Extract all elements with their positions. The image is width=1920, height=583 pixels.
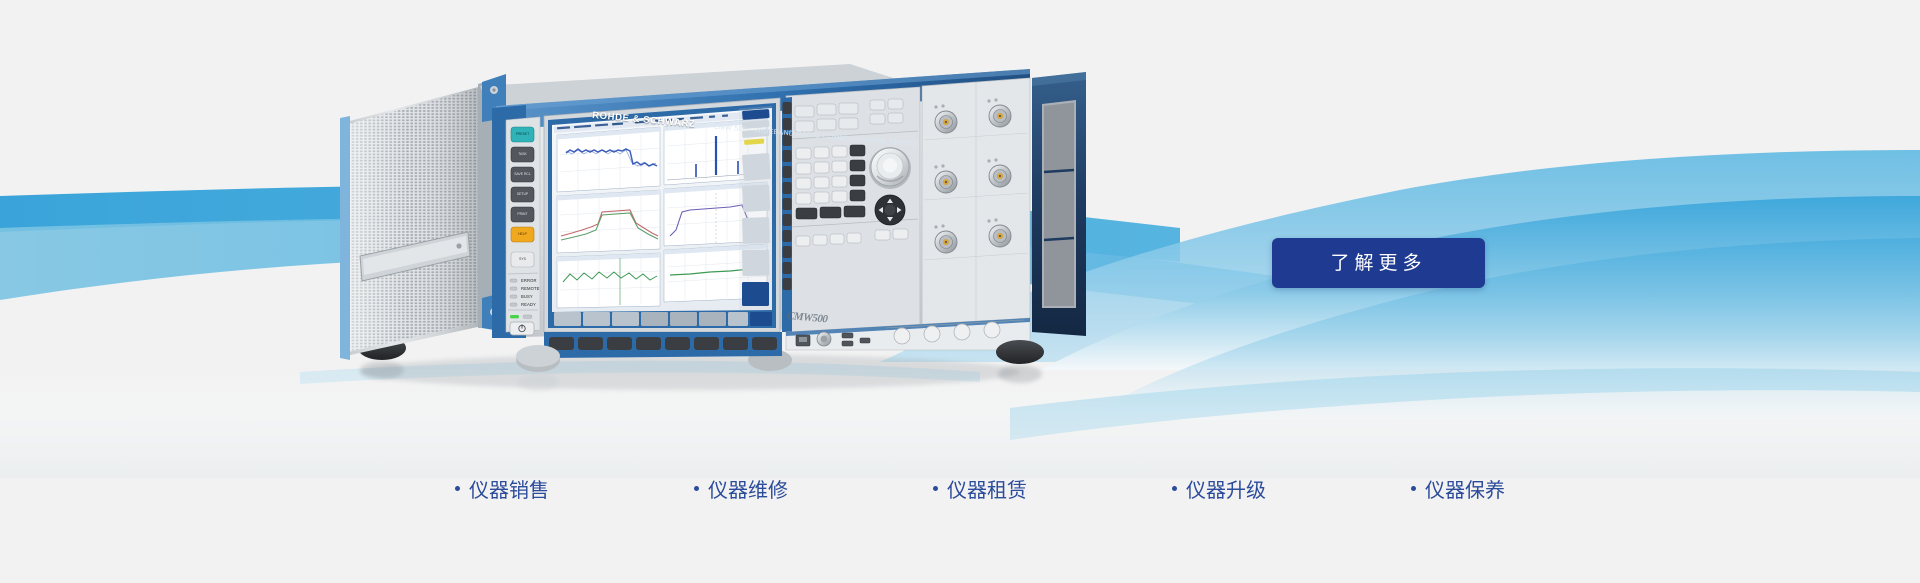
vsk-4[interactable] [783,150,792,162]
softkey-3[interactable] [607,337,632,350]
key-decimal[interactable] [814,192,829,203]
key-on-off[interactable] [870,100,885,110]
vsk-7[interactable] [783,198,792,210]
service-label: 仪器销售 [469,474,549,503]
led-remote [510,287,517,290]
instrument-illustration [330,60,1090,405]
key-lower-4[interactable] [847,233,861,243]
bullet-icon [933,486,938,491]
af1-in-jack[interactable] [894,328,910,344]
vsk-10[interactable] [783,246,792,258]
key-6[interactable] [832,161,847,172]
key-menu[interactable] [870,114,885,124]
navigation-dpad[interactable] [875,195,905,225]
key-lower-6[interactable] [893,229,908,239]
key-label-help: HELP [511,232,534,236]
service-label: 仪器租赁 [947,474,1027,503]
key-data[interactable] [795,121,814,132]
led-ready [510,303,517,306]
tab-rf-settings [742,153,771,181]
key-measure[interactable] [817,104,836,115]
led-label-error: ERROR [521,278,537,283]
screen-tab-8 [750,312,772,326]
key-undo[interactable] [888,113,903,123]
lan-port[interactable] [796,335,810,346]
softkey-8[interactable] [752,337,777,350]
key-2[interactable] [814,177,829,188]
vsk-2[interactable] [783,118,792,130]
service-item-upgrade[interactable]: 仪器升级 [1172,474,1266,503]
bullet-icon [694,486,699,491]
tab-active-bottom [742,282,769,306]
key-7[interactable] [796,148,811,159]
screen-side-tabs[interactable] [739,106,772,310]
key-label-setup: SETUP [511,192,534,196]
key-lower-1[interactable] [796,236,810,246]
key-label-sys: SYS [511,257,534,261]
key-stats[interactable] [817,119,836,130]
softkey-6[interactable] [694,337,719,350]
bullet-icon [1172,486,1177,491]
hero-banner: ROHDE & SCHWARZ CMW 500 · WIDEBAND RADIO… [0,0,1920,583]
key-8[interactable] [814,147,829,158]
softkey-7[interactable] [723,337,748,350]
screen-tab-3 [612,312,639,326]
plot-spectral-flatness [557,253,660,308]
tab-trigger [742,185,770,212]
vsk-11[interactable] [783,262,792,274]
tab-spacer-1 [742,217,770,244]
vsk-3[interactable] [783,134,792,146]
sensor-port[interactable] [817,332,831,346]
key-4[interactable] [796,163,811,174]
led-label-ready: READY [521,302,536,307]
service-item-repair[interactable]: 仪器维修 [694,474,788,503]
side-rail-left [340,116,350,360]
led-label-busy: BUSY [521,294,533,299]
bullet-icon [1411,486,1416,491]
vsk-1[interactable] [783,102,792,114]
key-lower-3[interactable] [830,234,844,244]
led-error [510,279,517,282]
power-indicator-led [510,315,519,318]
screen-tab-4 [641,312,668,326]
key-unit-2[interactable] [850,160,865,171]
key-unit-4[interactable] [850,190,865,201]
screen-tab-5 [670,312,697,326]
softkey-2[interactable] [578,337,603,350]
led-label-remote: REMOTE [521,286,540,291]
key-9[interactable] [832,146,847,157]
service-label: 仪器保养 [1425,474,1505,503]
af1-out-jack[interactable] [954,324,970,340]
vsk-8[interactable] [783,214,792,226]
key-label-save-rcl: SAVE RCL [511,172,534,176]
key-tab[interactable] [820,207,841,218]
service-item-rental[interactable]: 仪器租赁 [933,474,1027,503]
plot-spectrum-emission-mask [557,190,660,253]
key-esc[interactable] [888,99,903,109]
screen-bottom-tabs[interactable] [554,312,772,326]
service-label: 仪器维修 [708,474,788,503]
key-enter[interactable] [844,206,865,217]
vsk-12[interactable] [783,278,792,290]
foot-front-right [996,340,1044,364]
af2-out-jack[interactable] [984,322,1000,338]
tab-display [742,250,769,276]
key-label-preset: PRESET [511,132,534,136]
vsk-6[interactable] [783,182,792,194]
key-1[interactable] [796,178,811,189]
softkey-5[interactable] [665,337,690,350]
softkey-4[interactable] [636,337,661,350]
service-list: 仪器销售 仪器维修 仪器租赁 仪器升级 仪器保养 [455,468,1505,508]
screen-tab-2 [583,312,610,326]
led-busy [510,295,517,298]
vsk-5[interactable] [783,166,792,178]
service-item-maintenance[interactable]: 仪器保养 [1411,474,1505,503]
key-5[interactable] [814,162,829,173]
learn-more-button[interactable]: 了解更多 [1272,238,1485,288]
af2-in-jack[interactable] [924,326,940,342]
key-label-task: TASK [511,152,534,156]
service-item-sales[interactable]: 仪器销售 [455,474,549,503]
rotary-knob[interactable] [869,147,911,189]
key-0[interactable] [796,193,811,204]
key-backspace[interactable] [796,208,817,219]
key-signal-gen[interactable] [795,106,814,117]
bullet-icon [455,486,460,491]
vsk-9[interactable] [783,230,792,242]
screen-tab-7 [728,312,748,326]
right-carry-handle[interactable] [1032,72,1086,336]
key-3[interactable] [832,176,847,187]
key-minus[interactable] [832,191,847,202]
key-more[interactable] [839,118,858,129]
key-label-print: PRINT [511,212,534,216]
device-shadow [360,354,1020,390]
standby-led [523,315,532,318]
key-signaling[interactable] [839,103,858,114]
key-unit-3[interactable] [850,175,865,186]
plot-power-vs-time [557,127,660,192]
screen-tab-6 [699,312,726,326]
key-lower-2[interactable] [813,235,827,245]
key-unit-1[interactable] [850,145,865,156]
key-lower-5[interactable] [875,230,890,240]
screen-tab-1 [554,312,581,326]
service-label: 仪器升级 [1186,474,1266,503]
cmw500-instrument: ROHDE & SCHWARZ CMW 500 · WIDEBAND RADIO… [330,60,1090,405]
